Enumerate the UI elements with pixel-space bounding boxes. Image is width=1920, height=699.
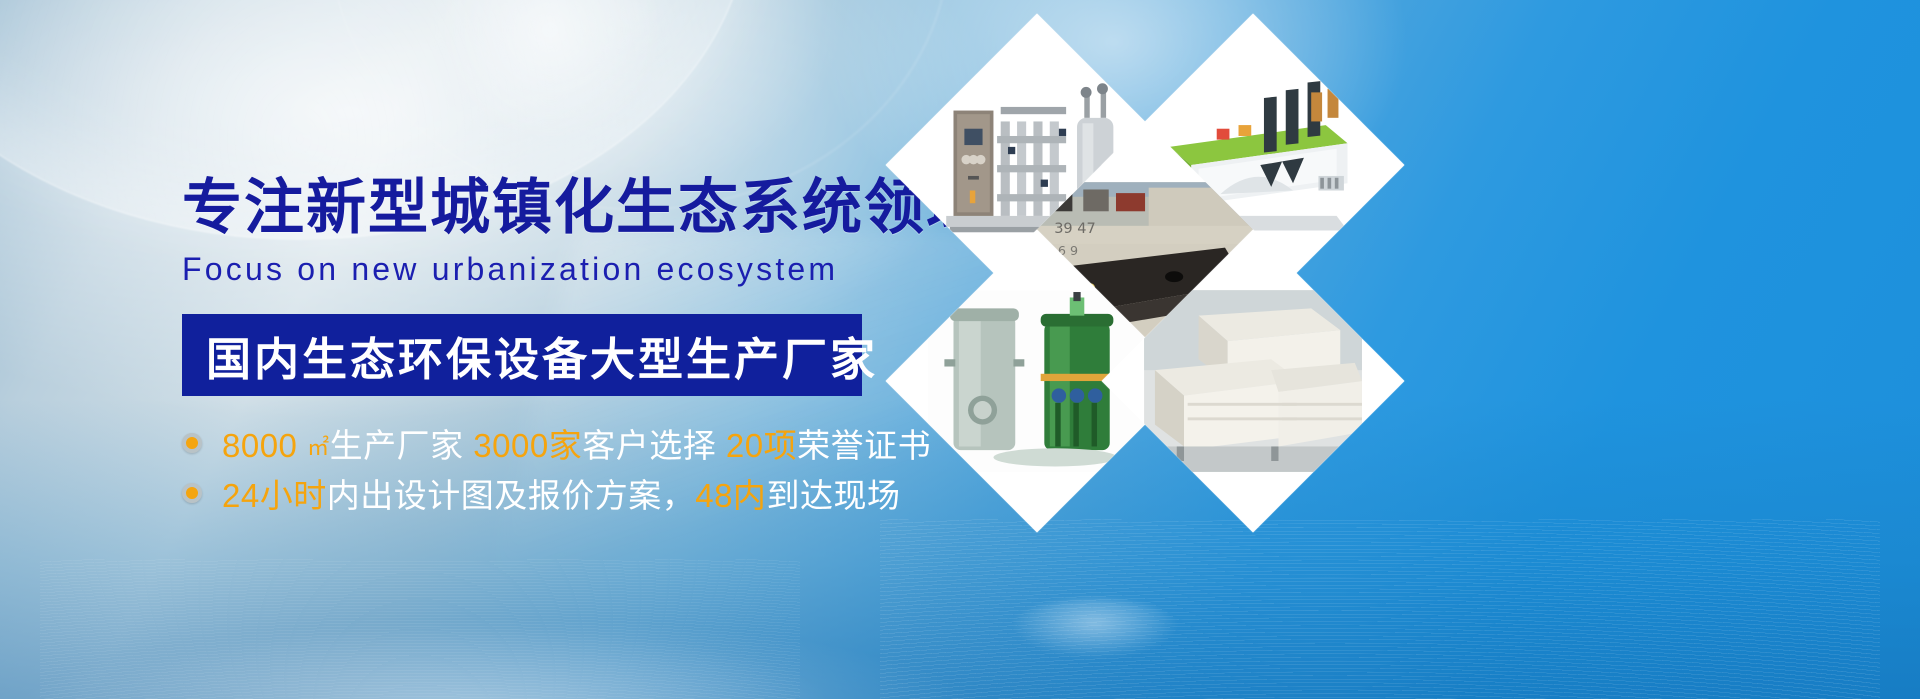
water-droplet-decoration — [1010, 599, 1180, 659]
benefit-line-1: 8000 ㎡生产厂家 3000家客户选择 20项荣誉证书 — [222, 419, 931, 467]
stacked-precast-concrete-panels-icon — [1144, 272, 1362, 490]
product-diamond-grid: 39 47 6 9 — [930, 58, 1360, 488]
benefit-line-2: 24小时内出设计图及报价方案，48内到达现场 — [222, 469, 900, 517]
banner-copy-block: 专注新型城镇化生态系统领域 Focus on new urbanization … — [182, 176, 902, 518]
benefit-2-seg-0: 24小时 — [222, 477, 327, 514]
list-item: 24小时内出设计图及报价方案，48内到达现场 — [182, 468, 902, 518]
list-item: 8000 ㎡生产厂家 3000家客户选择 20项荣誉证书 — [182, 418, 902, 468]
benefit-list: 8000 ㎡生产厂家 3000家客户选择 20项荣誉证书 24小时内出设计图及报… — [182, 418, 902, 518]
banner-subheadline-english: Focus on new urbanization ecosystem — [182, 251, 902, 288]
bullet-dot-icon — [182, 483, 202, 503]
benefit-1-seg-3: 3000家 — [473, 427, 582, 464]
benefit-1-seg-4: 客户选择 — [582, 427, 726, 464]
benefit-2-seg-2: 48内 — [695, 477, 766, 514]
bullet-dot-icon — [182, 433, 202, 453]
strapline-text: 国内生态环保设备大型生产厂家 — [206, 323, 878, 388]
promotional-banner: 专注新型城镇化生态系统领域 Focus on new urbanization … — [0, 0, 1920, 699]
benefit-1-seg-0: 8000 — [222, 427, 307, 464]
benefit-1-seg-6: 荣誉证书 — [797, 427, 931, 464]
benefit-1-seg-5: 20项 — [726, 427, 797, 464]
svg-text:39 47: 39 47 — [1054, 221, 1096, 237]
strapline-bar: 国内生态环保设备大型生产厂家 — [182, 314, 862, 396]
water-ripple-left — [40, 559, 800, 699]
benefit-1-seg-1: ㎡ — [307, 435, 330, 460]
banner-headline: 专注新型城镇化生态系统领域 — [182, 176, 902, 239]
benefit-2-seg-3: 到达现场 — [766, 477, 900, 514]
benefit-1-seg-2: 生产厂家 — [330, 427, 474, 464]
benefit-2-seg-1: 内出设计图及报价方案， — [327, 477, 696, 514]
